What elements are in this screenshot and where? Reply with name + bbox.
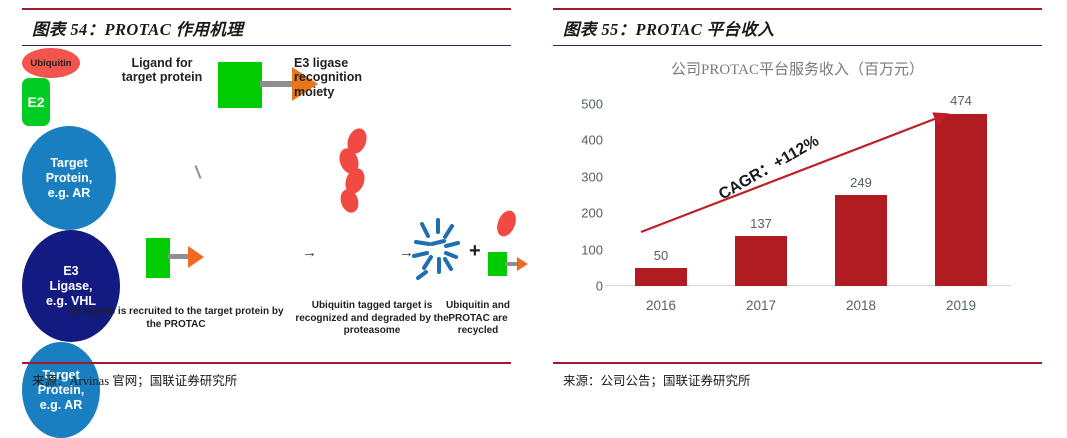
bar-2018[interactable] [835, 195, 887, 286]
bar-value-2016: 50 [654, 248, 668, 263]
target-protein-line-2: Protein, [46, 171, 93, 185]
recycled-ubiquitin-icon [494, 208, 520, 239]
bar-value-2018: 249 [850, 175, 872, 190]
left-header-rule [22, 45, 511, 46]
plus-sign: + [469, 240, 481, 263]
chart-plot-area: 500 400 300 200 100 0 50 137 249 474 201… [611, 104, 1011, 286]
y-tick-500: 500 [581, 97, 603, 112]
e3-ligase-line-1: E3 [63, 264, 78, 278]
e3-recognition-label: E3 ligase recognition moiety [294, 56, 398, 99]
linker-bar-icon [260, 81, 294, 87]
ubiquitin-e2-link-icon [194, 165, 201, 179]
diagram-caption-2: Ubiquitin tagged target is recognized an… [294, 300, 450, 338]
left-source-note: 来源：Arvinas 官网；国联证券研究所 [32, 370, 237, 389]
right-figure-panel: 图表 55：PROTAC 平台收入 公司PROTAC平台服务收入（百万元） 50… [553, 0, 1053, 402]
y-tick-400: 400 [581, 133, 603, 148]
left-figure-title: 图表 54：PROTAC 作用机理 [32, 16, 243, 40]
left-top-rule [22, 8, 511, 10]
x-tick-2018: 2018 [846, 298, 876, 313]
y-tick-300: 300 [581, 169, 603, 184]
right-top-rule [553, 8, 1042, 10]
protac-green-square-icon [146, 238, 170, 278]
degraded-peptide-fragments-icon [408, 212, 468, 284]
target-protein-circle-left: Target Protein, e.g. AR [22, 126, 116, 230]
bar-2019[interactable] [935, 114, 987, 287]
e3-ligase-line-2: Ligase, [49, 279, 92, 293]
cagr-annotation-label: CAGR：+112% [713, 127, 822, 204]
chart-title: 公司PROTAC平台服务收入（百万元） [553, 58, 1042, 79]
right-header-rule [553, 45, 1042, 46]
y-tick-100: 100 [581, 242, 603, 257]
diagram-caption-1: E3 Ligase is recruited to the target pro… [60, 306, 292, 331]
ubiquitin-ellipse: Ubiquitin [22, 48, 80, 78]
process-arrow-1-icon: → [302, 244, 317, 261]
ligand-green-square-icon [218, 62, 262, 108]
y-tick-0: 0 [596, 279, 603, 294]
diagram-caption-3: Ubiquitin and PROTAC are recycled [442, 300, 514, 338]
x-tick-2016: 2016 [646, 298, 676, 313]
bar-2017[interactable] [735, 236, 787, 286]
bar-value-2019: 474 [950, 93, 972, 108]
y-tick-200: 200 [581, 206, 603, 221]
figure-page: 图表 54：PROTAC 作用机理 Ligand for target prot… [0, 0, 1067, 402]
target-protein-circle-middle: Target Protein, e.g. AR [22, 342, 100, 438]
x-tick-2017: 2017 [746, 298, 776, 313]
x-tick-2019: 2019 [946, 298, 976, 313]
revenue-bar-chart: 公司PROTAC平台服务收入（百万元） 500 400 300 200 100 … [553, 48, 1042, 348]
target-protein-line-1: Target [50, 156, 87, 170]
bar-value-2017: 137 [750, 216, 772, 231]
protac-mechanism-diagram: Ligand for target protein E3 ligase reco… [22, 48, 511, 348]
e2-box: E2 [22, 78, 50, 126]
left-bottom-rule [22, 362, 511, 364]
right-bottom-rule [553, 362, 1042, 364]
target-protein-line-3: e.g. AR [48, 186, 91, 200]
right-figure-title: 图表 55：PROTAC 平台收入 [563, 16, 774, 40]
recycled-protac-triangle-icon [517, 257, 528, 271]
right-source-note: 来源：公司公告；国联证券研究所 [563, 370, 751, 389]
ligand-label: Ligand for target protein [114, 56, 210, 85]
protac-triangle-icon [188, 246, 204, 268]
protac-linker-icon [168, 254, 190, 259]
left-figure-panel: 图表 54：PROTAC 作用机理 Ligand for target prot… [22, 0, 522, 402]
bar-2016[interactable] [635, 268, 687, 286]
target-protein-mid-line-3: e.g. AR [40, 398, 83, 412]
